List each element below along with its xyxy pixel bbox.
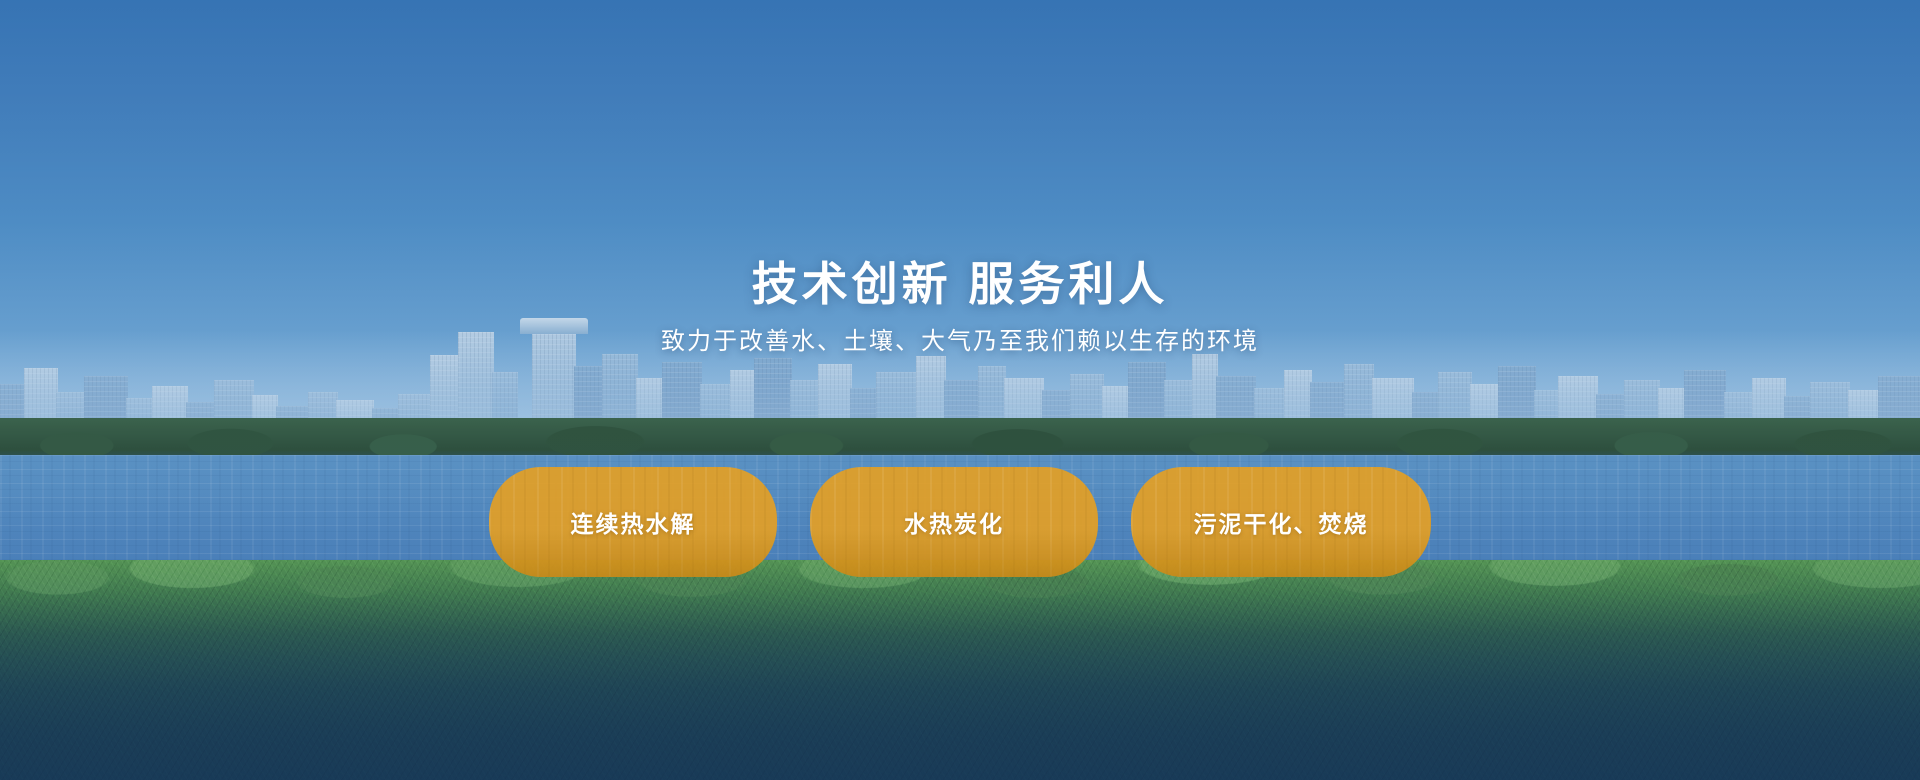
cta-button-label: 污泥干化、焚烧 — [1194, 505, 1369, 539]
hero-subheadline: 致力于改善水、土壤、大气乃至我们赖以生存的环境 — [0, 325, 1920, 359]
cta-button-label: 水热炭化 — [904, 505, 1004, 539]
cta-button-label: 连续热水解 — [571, 505, 696, 539]
hero-headline: 技术创新 服务利人 — [0, 258, 1920, 311]
cta-button-hydrothermal-carbonization[interactable]: 水热炭化 — [810, 467, 1098, 577]
hero-background-image — [0, 0, 1920, 780]
hero-banner: 技术创新 服务利人 致力于改善水、土壤、大气乃至我们赖以生存的环境 连续热水解 … — [0, 0, 1920, 780]
cta-button-continuous-thermal-hydrolysis[interactable]: 连续热水解 — [489, 467, 777, 577]
hero-copy: 技术创新 服务利人 致力于改善水、土壤、大气乃至我们赖以生存的环境 — [0, 258, 1920, 359]
hero-cta-group: 连续热水解 水热炭化 污泥干化、焚烧 — [0, 467, 1920, 577]
cta-button-sludge-drying-incineration[interactable]: 污泥干化、焚烧 — [1131, 467, 1431, 577]
foreground-vegetation-layer — [0, 560, 1920, 780]
